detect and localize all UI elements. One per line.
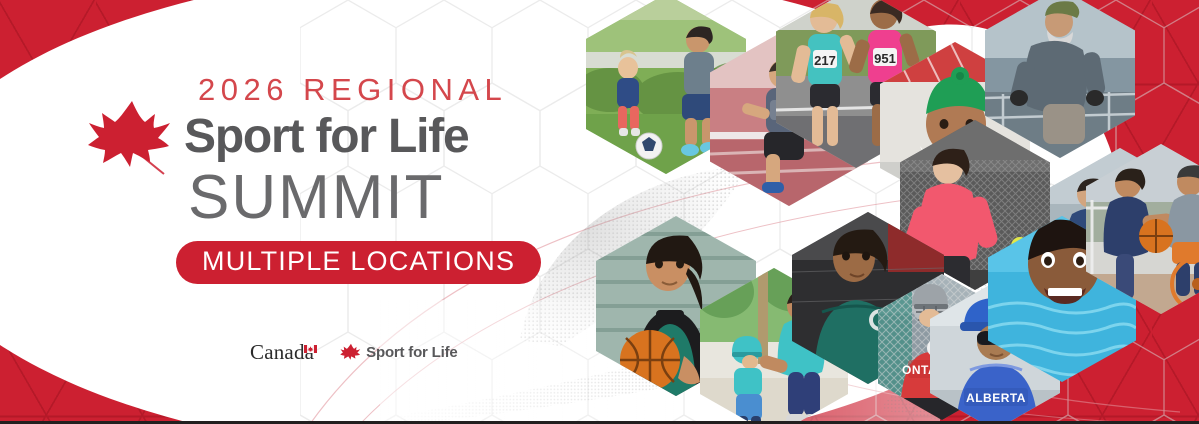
- partner-name-text: Sport for Life: [366, 345, 457, 360]
- maple-leaf-icon: [88, 98, 172, 176]
- svg-text:ALBERTA: ALBERTA: [966, 391, 1026, 405]
- location-badge: MULTIPLE LOCATIONS: [176, 241, 541, 284]
- year-regional-text: 2026 REGIONAL: [198, 74, 528, 105]
- canada-flag-icon: [304, 336, 317, 344]
- title-block: 2026 REGIONAL Sport for Life SUMMIT MULT…: [88, 74, 528, 284]
- footer-logos: Canada Sport for Life: [250, 342, 458, 363]
- sport-for-life-partner-logo: Sport for Life: [340, 343, 457, 362]
- svg-text:951: 951: [874, 51, 896, 66]
- summit-banner: 217 951: [0, 0, 1199, 424]
- sport-for-life-wordmark: Sport for Life: [184, 113, 528, 161]
- canada-wordmark: Canada: [250, 342, 314, 363]
- svg-text:217: 217: [814, 53, 836, 68]
- summit-wordmark: SUMMIT: [188, 167, 528, 229]
- maple-leaf-icon: [340, 343, 361, 362]
